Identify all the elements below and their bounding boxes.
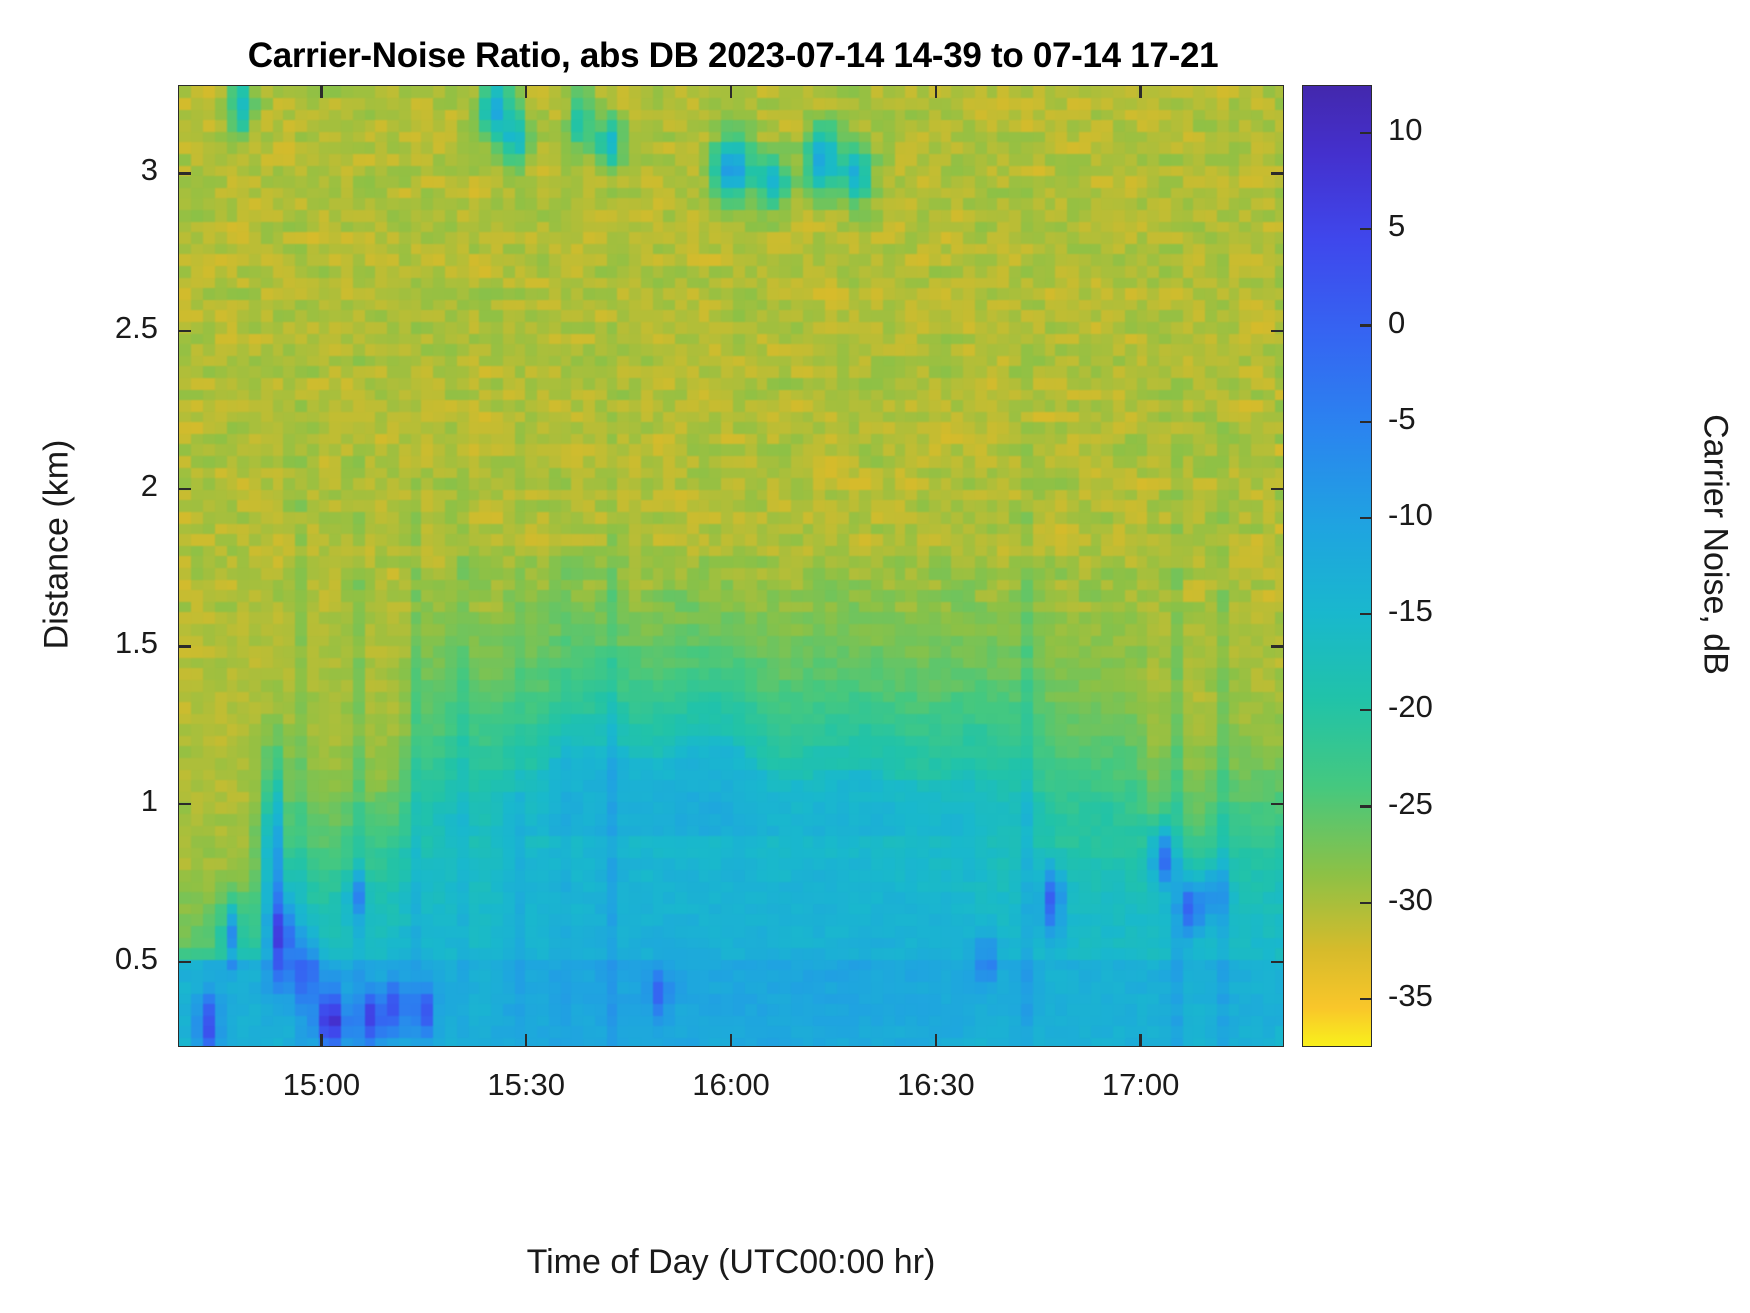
heatmap-canvas bbox=[179, 86, 1284, 1047]
x-tick-label-3: 16:30 bbox=[836, 1067, 1036, 1103]
x-tick-mark bbox=[1139, 1034, 1141, 1047]
y-tick-mark-right bbox=[1271, 172, 1284, 174]
colorbar[interactable]: 1050-5-10-15-20-25-30-35 bbox=[1302, 85, 1372, 1047]
y-axis-title: Distance (km) bbox=[38, 335, 77, 755]
colorbar-tick-mark bbox=[1360, 613, 1372, 615]
colorbar-tick-mark bbox=[1360, 324, 1372, 326]
y-tick-mark bbox=[178, 330, 191, 332]
colorbar-tick-label-9: -35 bbox=[1388, 978, 1433, 1014]
y-tick-mark-right bbox=[1271, 803, 1284, 805]
colorbar-tick-label-2: 0 bbox=[1388, 305, 1405, 341]
colorbar-tick-mark bbox=[1360, 805, 1372, 807]
colorbar-tick-label-5: -15 bbox=[1388, 593, 1433, 629]
heatmap-plot-area[interactable] bbox=[178, 85, 1284, 1047]
colorbar-tick-mark bbox=[1360, 421, 1372, 423]
y-tick-mark-right bbox=[1271, 961, 1284, 963]
page-title: Carrier-Noise Ratio, abs DB 2023-07-14 1… bbox=[178, 36, 1288, 76]
y-tick-mark-right bbox=[1271, 330, 1284, 332]
colorbar-tick-label-7: -25 bbox=[1388, 786, 1433, 822]
x-tick-label-4: 17:00 bbox=[1041, 1067, 1241, 1103]
colorbar-tick-mark bbox=[1360, 709, 1372, 711]
colorbar-tick-mark bbox=[1360, 228, 1372, 230]
y-tick-label-0: 3 bbox=[0, 152, 158, 188]
x-tick-label-0: 15:00 bbox=[221, 1067, 421, 1103]
figure-root: Carrier-Noise Ratio, abs DB 2023-07-14 1… bbox=[0, 0, 1750, 1313]
colorbar-title: Carrier Noise, dB bbox=[1696, 335, 1735, 755]
x-tick-mark-top bbox=[1139, 85, 1141, 98]
y-tick-mark bbox=[178, 488, 191, 490]
y-tick-label-2: 2 bbox=[0, 468, 158, 504]
y-tick-mark bbox=[178, 803, 191, 805]
colorbar-tick-mark bbox=[1360, 998, 1372, 1000]
x-tick-label-1: 15:30 bbox=[426, 1067, 626, 1103]
colorbar-tick-label-8: -30 bbox=[1388, 882, 1433, 918]
x-tick-mark bbox=[935, 1034, 937, 1047]
y-tick-label-3: 1.5 bbox=[0, 625, 158, 661]
y-tick-mark bbox=[178, 645, 191, 647]
x-axis-title: Time of Day (UTC00:00 hr) bbox=[178, 1243, 1284, 1282]
colorbar-tick-label-1: 5 bbox=[1388, 208, 1405, 244]
y-tick-mark bbox=[178, 961, 191, 963]
colorbar-tick-label-3: -5 bbox=[1388, 401, 1416, 437]
x-tick-mark-top bbox=[935, 85, 937, 98]
colorbar-tick-mark bbox=[1360, 132, 1372, 134]
x-tick-mark bbox=[730, 1034, 732, 1047]
y-tick-mark-right bbox=[1271, 645, 1284, 647]
colorbar-tick-label-0: 10 bbox=[1388, 112, 1422, 148]
colorbar-tick-mark bbox=[1360, 517, 1372, 519]
x-tick-mark bbox=[525, 1034, 527, 1047]
y-tick-label-5: 0.5 bbox=[0, 941, 158, 977]
y-tick-label-4: 1 bbox=[0, 783, 158, 819]
x-tick-mark-top bbox=[730, 85, 732, 98]
x-tick-mark-top bbox=[320, 85, 322, 98]
y-tick-mark-right bbox=[1271, 488, 1284, 490]
x-tick-label-2: 16:00 bbox=[631, 1067, 831, 1103]
colorbar-tick-label-4: -10 bbox=[1388, 497, 1433, 533]
y-tick-mark bbox=[178, 172, 191, 174]
x-tick-mark bbox=[320, 1034, 322, 1047]
colorbar-tick-label-6: -20 bbox=[1388, 689, 1433, 725]
colorbar-tick-mark bbox=[1360, 902, 1372, 904]
x-tick-mark-top bbox=[525, 85, 527, 98]
y-tick-label-1: 2.5 bbox=[0, 310, 158, 346]
